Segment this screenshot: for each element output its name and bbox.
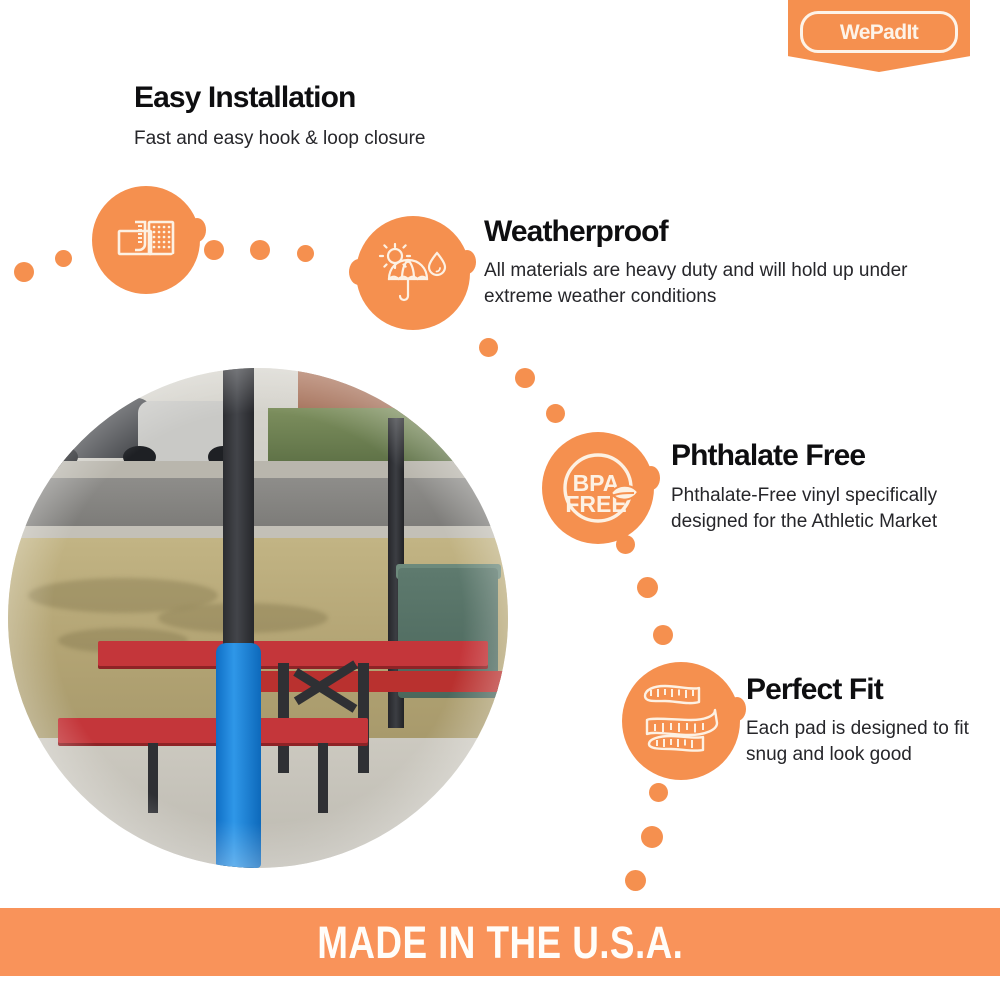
sun-umbrella-raindrop-icon [356, 216, 470, 330]
trail-dot [250, 240, 270, 260]
trail-dot [55, 250, 72, 267]
made-in-usa-text: MADE IN THE U.S.A. [317, 920, 683, 965]
trail-dot [616, 535, 635, 554]
trail-dot [167, 253, 189, 275]
hook-and-loop-icon [92, 186, 200, 294]
trail-dot [204, 240, 224, 260]
trail-dot [637, 577, 658, 598]
infographic-page: WePadIt Easy Installation Fast and easy … [0, 0, 1000, 987]
trail-dot [546, 404, 565, 423]
trail-dot [14, 262, 34, 282]
brand-logo[interactable]: WePadIt [788, 0, 970, 72]
feature-description-easy-installation: Fast and easy hook & loop closure [134, 126, 554, 152]
trail-dot [653, 625, 673, 645]
measuring-tape-icon [622, 662, 740, 780]
product-photo-scene [8, 368, 508, 868]
feature-description-perfect-fit: Each pad is designed to fit snug and loo… [746, 716, 981, 767]
feature-title-perfect-fit: Perfect Fit [746, 673, 883, 706]
feature-description-phthalate-free: Phthalate-Free vinyl specifically design… [671, 483, 941, 534]
trail-dot [625, 870, 646, 891]
trail-dot [515, 368, 535, 388]
logo-text: WePadIt [840, 22, 918, 43]
feature-title-easy-installation: Easy Installation [134, 81, 355, 114]
product-photo [8, 368, 508, 868]
feature-description-weatherproof: All materials are heavy duty and will ho… [484, 258, 909, 309]
feature-title-weatherproof: Weatherproof [484, 215, 668, 248]
trail-dot [297, 245, 314, 262]
logo-outline-box: WePadIt [800, 11, 958, 53]
feature-title-phthalate-free: Phthalate Free [671, 439, 865, 472]
blue-pole-pad [216, 643, 261, 868]
trail-dot [479, 338, 498, 357]
trail-dot [649, 783, 668, 802]
trail-dot [641, 826, 663, 848]
bpa-free-leaf-icon: BPA FREE [542, 432, 654, 544]
made-in-usa-banner: MADE IN THE U.S.A. [0, 908, 1000, 976]
